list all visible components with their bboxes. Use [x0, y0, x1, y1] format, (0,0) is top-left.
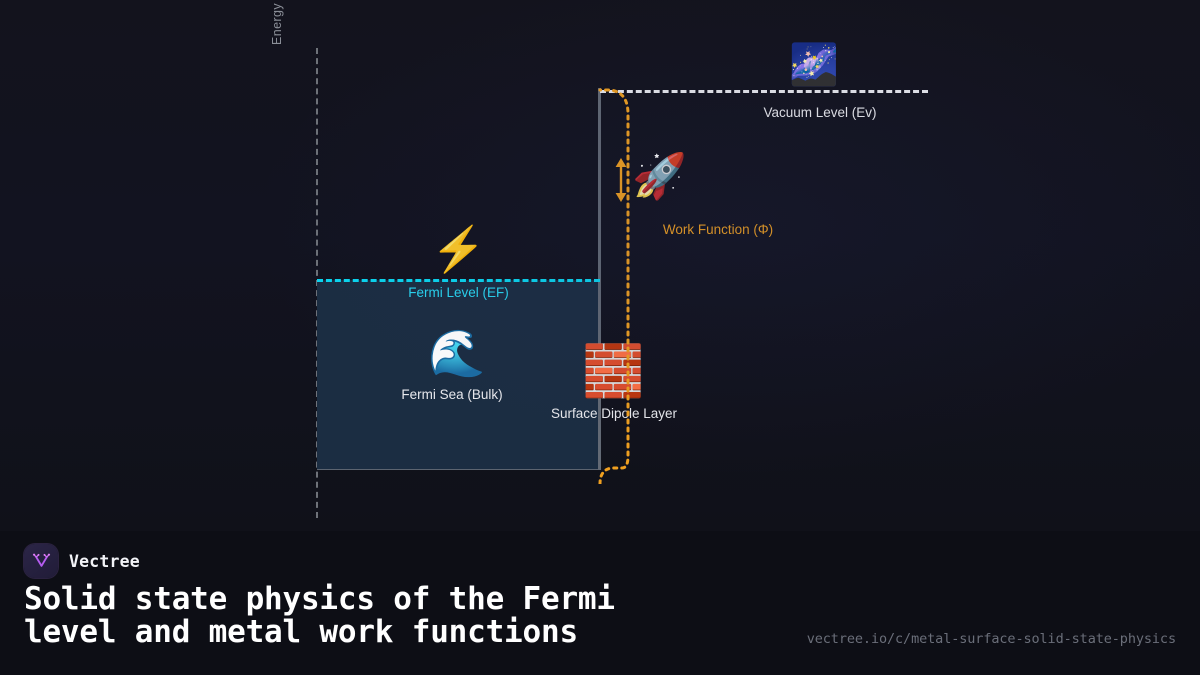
milky-way-icon: 🌌 [789, 45, 839, 85]
vectree-logo-icon [24, 544, 58, 578]
surface-dipole-label: Surface Dipole Layer [494, 406, 734, 421]
high-voltage-icon: ⚡ [431, 228, 486, 272]
work-function-path [596, 84, 656, 484]
vacuum-level-line [600, 90, 928, 93]
work-function-label: Work Function (Φ) [544, 222, 892, 237]
work-function-arrow-icon [611, 158, 631, 202]
vacuum-level-label: Vacuum Level (Ev) [600, 105, 1040, 120]
fermi-sea-label: Fermi Sea (Bulk) [322, 387, 582, 402]
rocket-icon: 🚀 [632, 155, 687, 199]
energy-diagram: Energy 🌌 Vacuum Level (Ev) ⚡ Fermi Level… [0, 0, 1200, 531]
footer-bar: Vectree Solid state physics of the Fermi… [0, 531, 1200, 675]
fermi-level-line [317, 279, 600, 282]
fermi-level-label: Fermi Level (EF) [317, 285, 600, 300]
brand-name: Vectree [69, 552, 140, 571]
page-title: Solid state physics of the Fermi level a… [24, 583, 784, 650]
screenshot-root: Energy 🌌 Vacuum Level (Ev) ⚡ Fermi Level… [0, 0, 1200, 675]
brand-lockup: Vectree [24, 544, 140, 578]
source-url: vectree.io/c/metal-surface-solid-state-p… [807, 631, 1176, 647]
wave-icon: 🌊 [428, 330, 485, 376]
brick-icon: 🧱 [582, 346, 644, 396]
energy-axis-label: Energy [270, 3, 284, 45]
